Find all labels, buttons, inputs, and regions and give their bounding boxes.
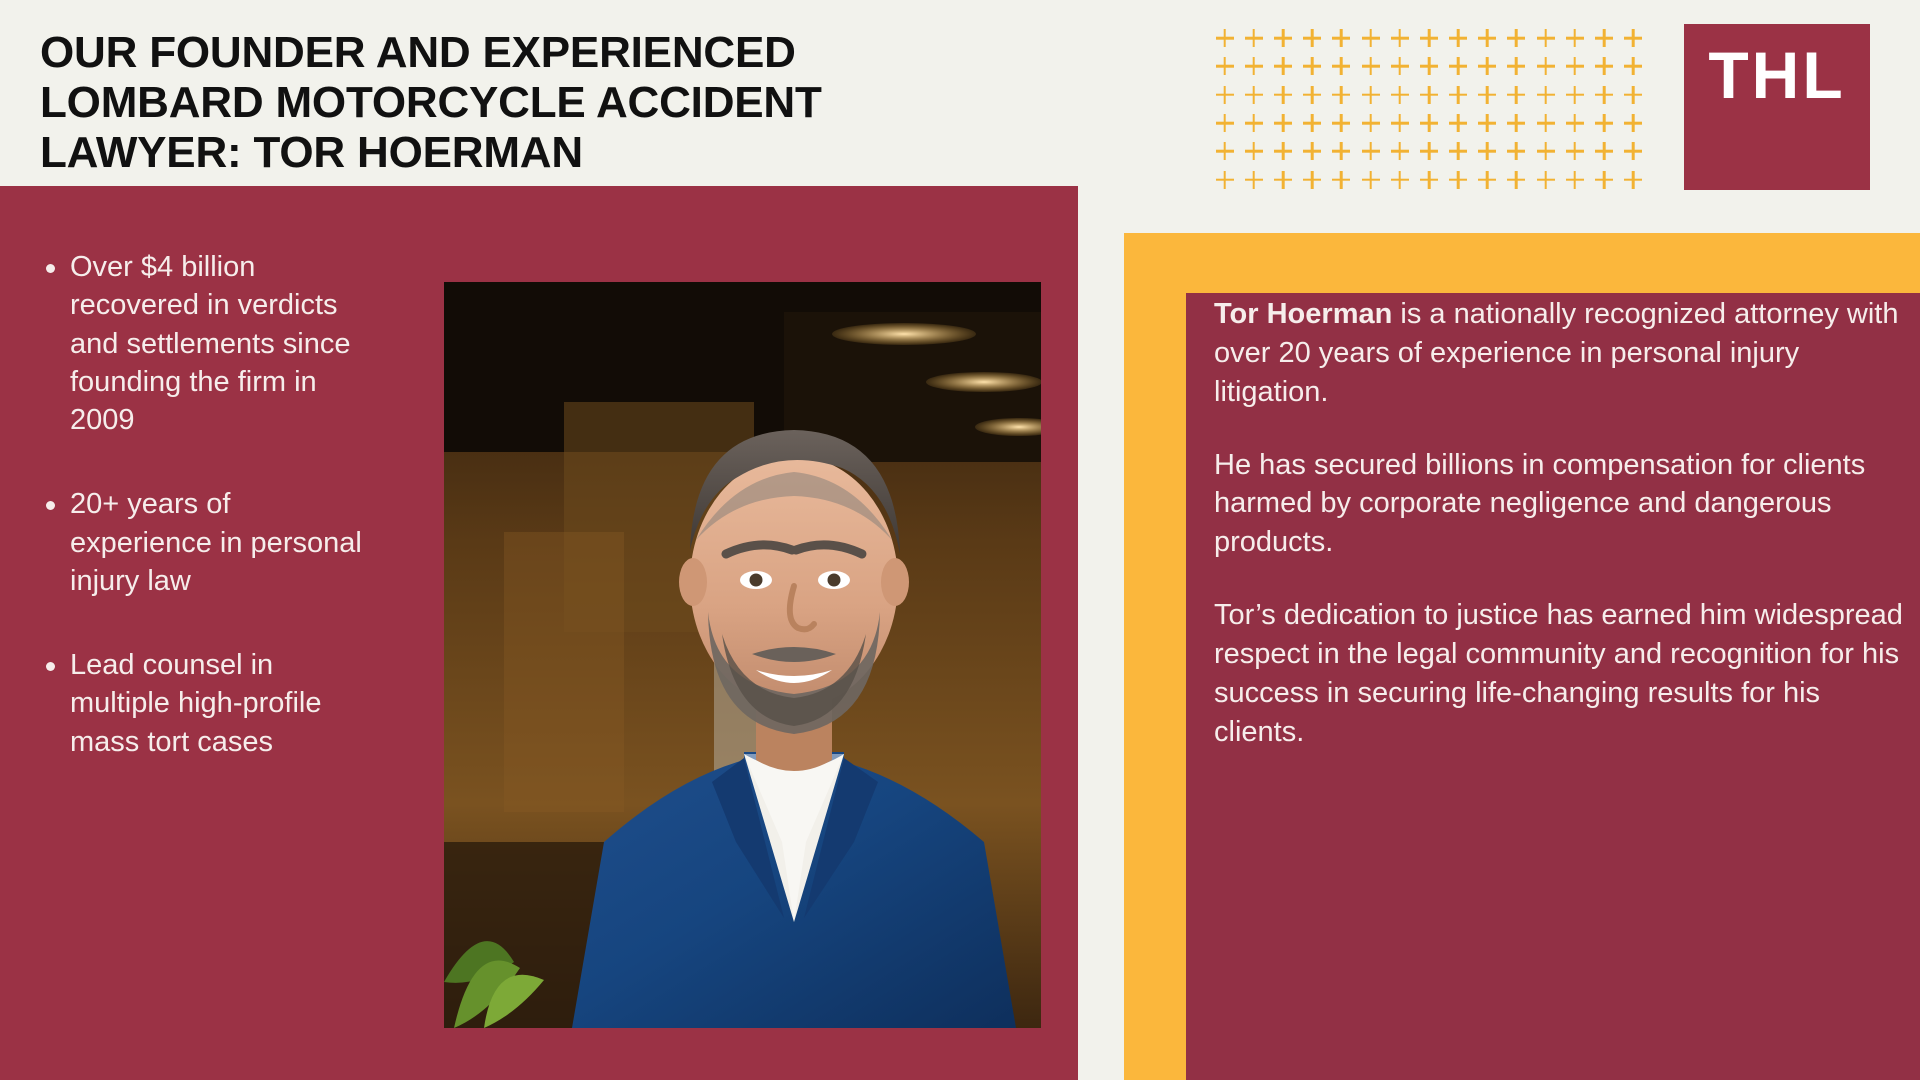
plus-pattern-row [1210, 81, 1648, 109]
plus-icon [1531, 165, 1560, 193]
plus-pattern-row [1210, 137, 1648, 165]
plus-icon [1619, 109, 1648, 137]
founder-portrait-photo [444, 282, 1041, 1028]
plus-icon [1385, 109, 1414, 137]
bio-paragraph-2: He has secured billions in compensation … [1214, 446, 1904, 563]
plus-icon [1444, 109, 1473, 137]
plus-icon [1327, 137, 1356, 165]
plus-icon [1268, 165, 1297, 193]
plus-icon [1502, 165, 1531, 193]
plus-icon [1619, 137, 1648, 165]
plus-icon [1298, 52, 1327, 80]
bio-paragraph-3: Tor’s dedication to justice has earned h… [1214, 596, 1904, 751]
plus-icon [1210, 109, 1239, 137]
plus-pattern-row [1210, 52, 1648, 80]
credentials-list: Over $4 billion recovered in verdicts an… [40, 248, 370, 761]
plus-pattern-row [1210, 24, 1648, 52]
plus-icon [1385, 81, 1414, 109]
plus-icon [1589, 165, 1618, 193]
plus-icon [1589, 109, 1618, 137]
plus-icon [1560, 24, 1589, 52]
plus-icon [1502, 109, 1531, 137]
plus-icon [1210, 24, 1239, 52]
plus-icon [1385, 24, 1414, 52]
plus-icon [1385, 52, 1414, 80]
list-item: 20+ years of experience in personal inju… [40, 485, 370, 600]
plus-icon [1589, 52, 1618, 80]
plus-icon [1589, 137, 1618, 165]
plus-icon [1385, 137, 1414, 165]
plus-icon [1502, 81, 1531, 109]
plus-icon [1531, 52, 1560, 80]
plus-icon [1239, 137, 1268, 165]
plus-icon [1619, 24, 1648, 52]
list-item: Lead counsel in multiple high-profile ma… [40, 646, 370, 761]
plus-icon [1298, 165, 1327, 193]
plus-icon [1444, 137, 1473, 165]
plus-icon [1531, 24, 1560, 52]
bio-name-emphasis: Tor Hoerman [1214, 298, 1392, 330]
plus-icon [1327, 109, 1356, 137]
plus-icon [1356, 24, 1385, 52]
plus-icon [1560, 165, 1589, 193]
plus-icon [1473, 52, 1502, 80]
plus-icon [1239, 52, 1268, 80]
plus-icon [1356, 137, 1385, 165]
thl-logo-text: THL [1684, 42, 1870, 108]
plus-icon [1444, 52, 1473, 80]
plus-pattern-row [1210, 109, 1648, 137]
plus-icon [1210, 81, 1239, 109]
plus-icon [1414, 109, 1443, 137]
page-title: OUR FOUNDER AND EXPERIENCED LOMBARD MOTO… [40, 28, 880, 178]
plus-icon [1619, 81, 1648, 109]
plus-icon [1473, 165, 1502, 193]
plus-icon [1268, 52, 1297, 80]
plus-icon [1531, 109, 1560, 137]
plus-icon [1356, 109, 1385, 137]
plus-icon [1327, 24, 1356, 52]
plus-icon [1444, 81, 1473, 109]
plus-icon [1327, 52, 1356, 80]
plus-icon [1414, 137, 1443, 165]
plus-icon [1298, 137, 1327, 165]
plus-icon [1268, 24, 1297, 52]
plus-icon [1210, 52, 1239, 80]
plus-icon [1210, 165, 1239, 193]
plus-icon [1473, 81, 1502, 109]
plus-icon [1210, 137, 1239, 165]
plus-icon [1473, 24, 1502, 52]
plus-icon [1268, 109, 1297, 137]
plus-icon [1239, 165, 1268, 193]
plus-icon [1239, 24, 1268, 52]
plus-icon [1560, 137, 1589, 165]
plus-pattern-row [1210, 165, 1648, 193]
plus-icon [1502, 137, 1531, 165]
plus-icon [1327, 165, 1356, 193]
plus-icon [1356, 165, 1385, 193]
page-title-line-1: OUR FOUNDER AND EXPERIENCED [40, 28, 880, 78]
plus-icon [1356, 81, 1385, 109]
plus-icon [1239, 109, 1268, 137]
plus-icon [1414, 24, 1443, 52]
bio-text-block: Tor Hoerman is a nationally recognized a… [1214, 295, 1904, 752]
page-title-line-2: LOMBARD MOTORCYCLE ACCIDENT [40, 78, 880, 128]
plus-icon [1502, 52, 1531, 80]
plus-icon [1589, 24, 1618, 52]
plus-icon [1560, 109, 1589, 137]
plus-icon [1268, 81, 1297, 109]
list-item: Over $4 billion recovered in verdicts an… [40, 248, 370, 439]
plus-icon [1327, 81, 1356, 109]
plus-icon [1414, 52, 1443, 80]
plus-icon [1619, 52, 1648, 80]
plus-icon [1414, 81, 1443, 109]
plus-icon [1414, 165, 1443, 193]
infographic-canvas: OUR FOUNDER AND EXPERIENCED LOMBARD MOTO… [0, 0, 1920, 1080]
plus-icon [1298, 109, 1327, 137]
plus-icon [1589, 81, 1618, 109]
plus-icon [1444, 165, 1473, 193]
plus-icon [1531, 137, 1560, 165]
plus-icon [1385, 165, 1414, 193]
portrait-illustration [444, 282, 1041, 1028]
bio-paragraph-1: Tor Hoerman is a nationally recognized a… [1214, 295, 1904, 412]
plus-icon [1268, 137, 1297, 165]
plus-icon [1619, 165, 1648, 193]
plus-icon [1560, 81, 1589, 109]
plus-pattern-decoration [1210, 24, 1648, 194]
plus-icon [1239, 81, 1268, 109]
plus-icon [1444, 24, 1473, 52]
page-title-line-3: LAWYER: TOR HOERMAN [40, 128, 880, 178]
plus-icon [1531, 81, 1560, 109]
plus-icon [1502, 24, 1531, 52]
plus-icon [1560, 52, 1589, 80]
thl-logo: THL [1684, 24, 1870, 190]
plus-icon [1356, 52, 1385, 80]
plus-icon [1473, 137, 1502, 165]
plus-icon [1298, 81, 1327, 109]
plus-icon [1473, 109, 1502, 137]
plus-icon [1298, 24, 1327, 52]
